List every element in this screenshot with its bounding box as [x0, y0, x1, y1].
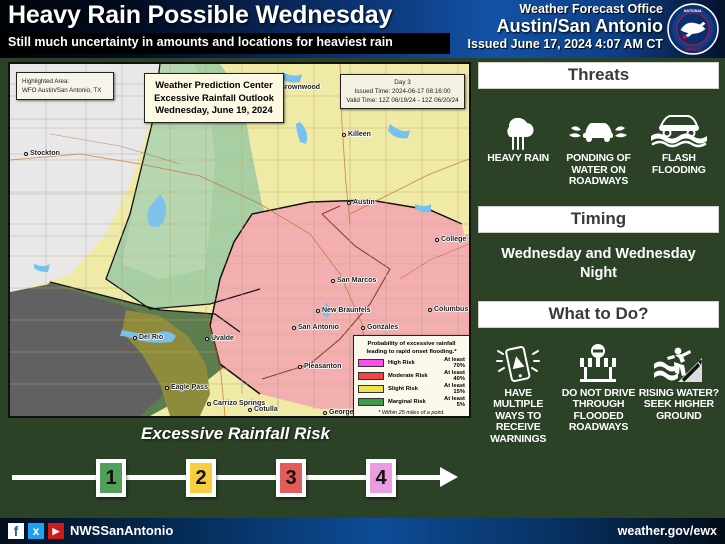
risk-level-chip[interactable]: 1: [96, 459, 126, 497]
threat-caption-flash-flooding: FLASH FLOODING: [639, 153, 719, 176]
timing-heading: Timing: [478, 206, 719, 233]
city-marker-icon: [316, 309, 320, 313]
twitter-icon[interactable]: x: [28, 523, 44, 539]
city-marker-icon: [435, 238, 439, 242]
legend-row: Moderate RiskAt least 40%: [358, 370, 465, 382]
legend-risk-name: High Risk: [384, 360, 433, 366]
city-label: New Braunfels: [316, 307, 371, 314]
city-name: Uvalde: [211, 335, 234, 342]
city-name: Del Rio: [139, 334, 163, 341]
facebook-icon[interactable]: f: [8, 523, 24, 539]
day3-issued-time: Issued Time: 2024-06-17 08:16:00: [345, 87, 460, 96]
city-label: Cotulla: [248, 406, 278, 413]
risk-level-chip[interactable]: 3: [276, 459, 306, 497]
legend-swatch: [358, 359, 384, 367]
page-subtitle: Still much uncertainty in amounts and lo…: [8, 35, 393, 49]
svg-text:SERVICE: SERVICE: [685, 48, 701, 52]
risk-scale-title: Excessive Rainfall Risk: [0, 424, 471, 444]
city-marker-icon: [24, 152, 28, 156]
city-marker-icon: [347, 201, 351, 205]
legend-risk-value: At least 40%: [433, 370, 465, 382]
office-name: Austin/San Antonio: [468, 16, 663, 36]
city-marker-icon: [205, 337, 209, 341]
city-name: Brownwood: [280, 84, 320, 91]
wpc-line-3: Wednesday, June 19, 2024: [151, 104, 277, 117]
legend-rows: High RiskAt least 70%Moderate RiskAt lea…: [358, 357, 465, 408]
highlighted-area-box: Highlighted Area: WFO Austin/San Antonio…: [16, 72, 114, 100]
road-barricade-icon: [558, 342, 638, 388]
city-name: Austin: [353, 199, 375, 206]
what-to-do-icon-row: HAVE MULTIPLE WAYS TO RECEIVE WARNINGS: [478, 342, 719, 446]
legend-risk-name: Moderate Risk: [384, 373, 433, 379]
flash-flooding-car-icon: [639, 107, 719, 153]
city-label: Killeen: [342, 131, 371, 138]
right-info-panel: Threats HEAVY RAIN: [478, 62, 719, 514]
city-marker-icon: [342, 133, 346, 137]
legend-swatch: [358, 385, 384, 393]
city-name: Killeen: [348, 131, 371, 138]
weather-graphic: Heavy Rain Possible Wednesday Still much…: [0, 0, 725, 544]
threat-item-heavy-rain: HEAVY RAIN: [478, 107, 558, 165]
city-name: Gonzales: [367, 324, 398, 331]
city-name: New Braunfels: [322, 307, 371, 314]
highlight-line-1: Highlighted Area:: [22, 77, 108, 86]
ponding-water-car-icon: [558, 107, 638, 153]
day3-valid-time: Valid Time: 12Z 06/19/24 - 12Z 06/20/24: [345, 96, 460, 105]
action-caption-warnings: HAVE MULTIPLE WAYS TO RECEIVE WARNINGS: [478, 388, 558, 446]
risk-level-number: 3: [280, 463, 302, 493]
city-label: Bay: [469, 362, 471, 369]
city-label: Eagle Pass: [165, 384, 208, 391]
wpc-line-2: Excessive Rainfall Outlook: [151, 92, 277, 105]
legend-risk-value: At least 5%: [435, 396, 465, 408]
risk-level-number: 1: [100, 463, 122, 493]
city-marker-icon: [292, 326, 296, 330]
header-bar: Heavy Rain Possible Wednesday Still much…: [0, 0, 725, 58]
city-label: Austin: [347, 199, 375, 206]
city-name: Pleasanton: [304, 363, 341, 370]
city-label: Stockton: [24, 150, 60, 157]
city-name: San Marcos: [337, 277, 376, 284]
nws-logo-icon: NATIONAL SERVICE: [667, 3, 719, 55]
social-handle[interactable]: NWSSanAntonio: [70, 523, 173, 538]
highlight-line-2: WFO Austin/San Antonio, TX: [22, 86, 108, 95]
city-label: San Antonio: [292, 324, 339, 331]
risk-level-chip[interactable]: 4: [366, 459, 396, 497]
issued-timestamp: Issued June 17, 2024 4:07 AM CT: [468, 36, 663, 52]
threats-icon-row: HEAVY RAIN P: [478, 107, 719, 188]
action-caption-higher-ground: RISING WATER? SEEK HIGHER GROUND: [639, 388, 719, 423]
footer-bar: f x ▶ NWSSanAntonio weather.gov/ewx: [0, 518, 725, 544]
city-marker-icon: [331, 279, 335, 283]
city-label: Gonzales: [361, 324, 398, 331]
threat-item-flash-flooding: FLASH FLOODING: [639, 107, 719, 176]
threat-item-ponding: PONDING OF WATER ON ROADWAYS: [558, 107, 638, 188]
day3-title: Day 3: [345, 78, 460, 87]
heavy-rain-icon: [478, 107, 558, 153]
threat-caption-heavy-rain: HEAVY RAIN: [478, 153, 558, 165]
legend-title-2: leading to rapid onset flooding.*: [358, 348, 465, 356]
city-name: Columbus: [434, 306, 468, 313]
action-caption-do-not-drive: DO NOT DRIVE THROUGH FLOODED ROADWAYS: [558, 388, 638, 434]
office-label: Weather Forecast Office: [468, 2, 663, 16]
risk-level-chip[interactable]: 2: [186, 459, 216, 497]
city-label: Columbus: [428, 306, 468, 313]
threat-caption-ponding: PONDING OF WATER ON ROADWAYS: [558, 153, 638, 188]
action-item-do-not-drive: DO NOT DRIVE THROUGH FLOODED ROADWAYS: [558, 342, 638, 434]
city-marker-icon: [298, 365, 302, 369]
legend-risk-value: At least 70%: [433, 357, 465, 369]
risk-scale: 1234: [8, 454, 466, 504]
person-climbing-higher-ground-icon: [639, 342, 719, 388]
city-marker-icon: [469, 364, 471, 368]
website-link[interactable]: weather.gov/ewx: [618, 524, 717, 538]
legend-row: Slight RiskAt least 15%: [358, 383, 465, 395]
wpc-outlook-title-box: Weather Prediction Center Excessive Rain…: [144, 73, 284, 123]
city-name: San Antonio: [298, 324, 339, 331]
legend-risk-name: Marginal Risk: [384, 399, 435, 405]
city-name: Eagle Pass: [171, 384, 208, 391]
city-marker-icon: [323, 411, 327, 415]
city-name: Cotulla: [254, 406, 278, 413]
city-name: Stockton: [30, 150, 60, 157]
legend-risk-name: Slight Risk: [384, 386, 433, 392]
city-marker-icon: [428, 308, 432, 312]
svg-text:NATIONAL: NATIONAL: [684, 9, 703, 13]
legend-swatch: [358, 372, 384, 380]
risk-level-number: 2: [190, 463, 212, 493]
city-label: Pleasanton: [298, 363, 341, 370]
city-marker-icon: [165, 386, 169, 390]
legend-row: High RiskAt least 70%: [358, 357, 465, 369]
action-item-higher-ground: RISING WATER? SEEK HIGHER GROUND: [639, 342, 719, 423]
office-info: Weather Forecast Office Austin/San Anton…: [468, 2, 663, 52]
legend-row: Marginal RiskAt least 5%: [358, 396, 465, 408]
risk-level-number: 4: [370, 463, 392, 493]
youtube-icon[interactable]: ▶: [48, 523, 64, 539]
city-label: Uvalde: [205, 335, 234, 342]
what-to-do-heading: What to Do?: [478, 301, 719, 328]
excessive-rainfall-outlook-map[interactable]: StocktonBrownwoodKilleenCollege StationA…: [8, 62, 471, 418]
city-label: Del Rio: [133, 334, 163, 341]
wpc-line-1: Weather Prediction Center: [151, 79, 277, 92]
risk-scale-arrow-icon: [440, 467, 458, 487]
city-marker-icon: [361, 326, 365, 330]
legend-title-1: Probability of excessive rainfall: [358, 340, 465, 348]
city-marker-icon: [207, 402, 211, 406]
timing-text: Wednesday and Wednesday Night: [478, 233, 719, 283]
city-marker-icon: [248, 408, 252, 412]
city-label: College Station: [435, 236, 471, 243]
map-legend: Probability of excessive rainfall leadin…: [353, 335, 470, 418]
legend-footnote-1: * Within 25 miles of a point.: [358, 410, 465, 418]
city-name: College Station: [441, 236, 471, 243]
day3-info-box: Day 3 Issued Time: 2024-06-17 08:16:00 V…: [340, 74, 465, 109]
legend-risk-value: At least 15%: [433, 383, 465, 395]
page-title: Heavy Rain Possible Wednesday: [8, 1, 392, 30]
threats-heading: Threats: [478, 62, 719, 89]
city-marker-icon: [133, 336, 137, 340]
legend-swatch: [358, 398, 384, 406]
action-item-warnings: HAVE MULTIPLE WAYS TO RECEIVE WARNINGS: [478, 342, 558, 446]
phone-alert-icon: [478, 342, 558, 388]
city-label: San Marcos: [331, 277, 376, 284]
